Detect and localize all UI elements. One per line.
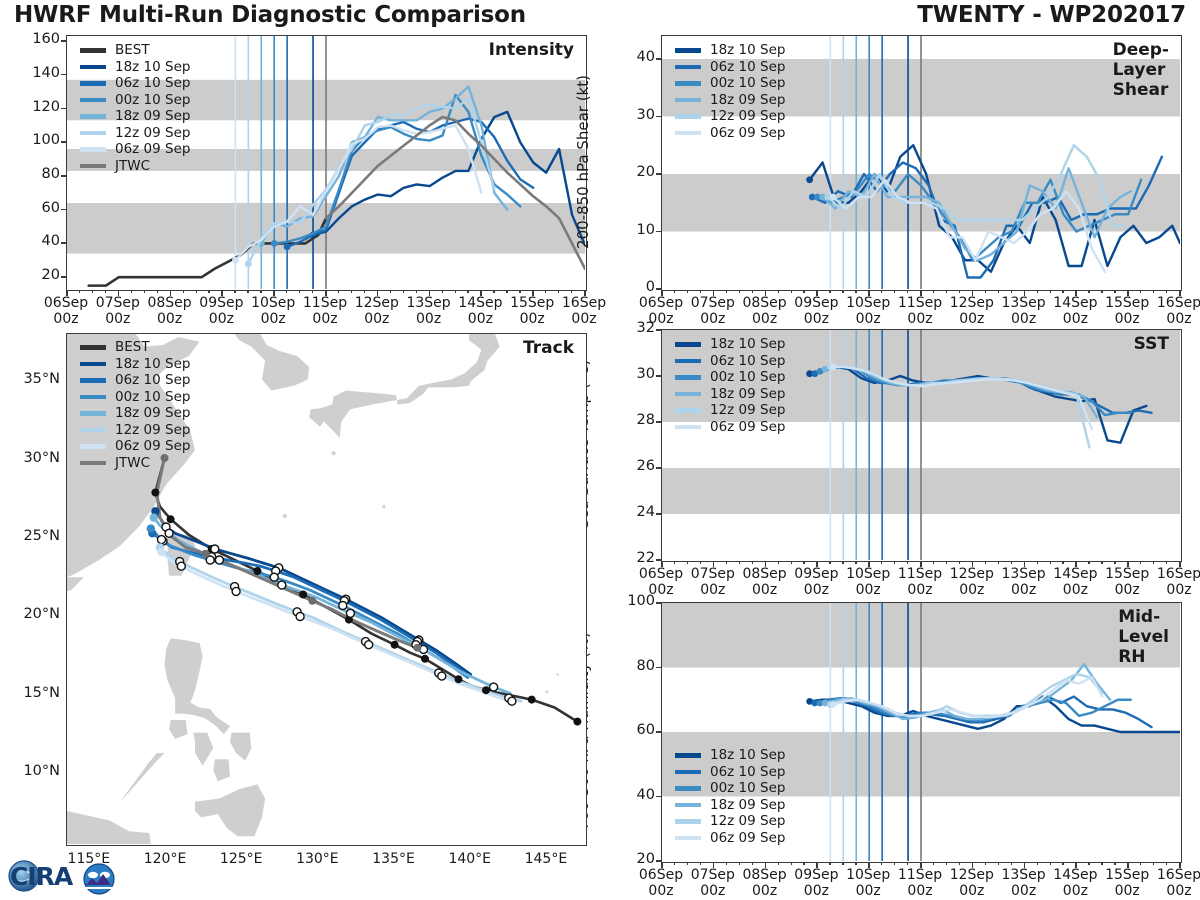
x-minor-tick	[998, 862, 999, 865]
x-minor-tick	[196, 290, 197, 293]
legend-swatch	[80, 81, 106, 86]
x-tick-mark	[972, 862, 974, 868]
legend-label: 06z 09 Sep	[710, 419, 785, 435]
panel-track: Track10°N15°N20°N25°N30°N35°N115°E120°E1…	[0, 325, 600, 885]
x-tick-mark	[868, 862, 870, 868]
x-tick-label: 16Sep00z	[1145, 867, 1200, 899]
x-minor-tick	[1153, 290, 1154, 293]
y-tick-mark	[656, 602, 662, 604]
lon-tick-label: 125°E	[201, 851, 281, 867]
legend-label: 18z 09 Sep	[710, 797, 785, 813]
x-minor-tick	[791, 561, 792, 564]
legend-swatch	[80, 395, 106, 400]
legend-label: 06z 10 Sep	[710, 764, 785, 780]
legend-swatch	[80, 345, 106, 350]
x-minor-tick	[855, 862, 856, 865]
x-tick-mark	[1075, 290, 1077, 296]
x-minor-tick	[338, 290, 339, 293]
y-tick-label: 80	[609, 658, 655, 674]
x-minor-tick	[1062, 290, 1063, 293]
legend-item[interactable]: 12z 09 Sep	[675, 402, 785, 419]
lat-tick-label: 30°N	[4, 450, 60, 466]
legend-item[interactable]: 18z 09 Sep	[675, 92, 785, 109]
x-minor-tick	[687, 862, 688, 865]
lon-tick-label: 145°E	[506, 851, 586, 867]
x-minor-tick	[752, 862, 753, 865]
x-minor-tick	[791, 290, 792, 293]
legend-label: BEST	[115, 339, 150, 355]
legend-label: 00z 10 Sep	[710, 780, 785, 796]
legend-swatch	[675, 425, 701, 430]
x-minor-tick	[985, 561, 986, 564]
x-tick-mark	[661, 862, 663, 868]
x-minor-tick	[1114, 862, 1115, 865]
legend-item[interactable]: 18z 10 Sep	[675, 336, 785, 353]
legend-swatch	[80, 378, 106, 383]
legend-label: 12z 09 Sep	[710, 813, 785, 829]
y-tick-label: 40	[14, 233, 60, 249]
x-minor-tick	[778, 561, 779, 564]
x-tick-mark	[325, 290, 327, 296]
x-minor-tick	[364, 290, 365, 293]
x-minor-tick	[907, 862, 908, 865]
x-minor-tick	[700, 862, 701, 865]
legend-swatch	[80, 65, 106, 70]
legend-item[interactable]: 06z 09 Sep	[675, 419, 785, 436]
chart-title-rh: Mid-Level RH	[1118, 607, 1169, 667]
x-minor-tick	[998, 290, 999, 293]
x-tick-mark	[429, 290, 431, 296]
x-minor-tick	[1166, 862, 1167, 865]
x-minor-tick	[1050, 290, 1051, 293]
legend-swatch	[675, 65, 701, 70]
x-minor-tick	[881, 290, 882, 293]
x-tick-mark	[118, 290, 120, 296]
lat-tick-label: 20°N	[4, 606, 60, 622]
legend-label: JTWC	[115, 455, 150, 471]
x-minor-tick	[739, 290, 740, 293]
y-tick-mark	[656, 467, 662, 469]
x-minor-tick	[1062, 561, 1063, 564]
x-minor-tick	[739, 561, 740, 564]
x-minor-tick	[894, 561, 895, 564]
x-minor-tick	[1166, 561, 1167, 564]
x-minor-tick	[506, 290, 507, 293]
x-minor-tick	[92, 290, 93, 293]
y-tick-label: 28	[609, 412, 655, 428]
legend-item[interactable]: 12z 09 Sep	[675, 813, 785, 830]
legend-swatch	[80, 362, 106, 367]
x-minor-tick	[946, 561, 947, 564]
x-minor-tick	[571, 290, 572, 293]
legend-item[interactable]: 12z 09 Sep	[80, 125, 190, 142]
legend-label: 06z 10 Sep	[115, 75, 190, 91]
x-tick-mark	[377, 290, 379, 296]
x-minor-tick	[1011, 862, 1012, 865]
x-tick-mark	[661, 561, 663, 567]
x-minor-tick	[1011, 561, 1012, 564]
legend-label: 00z 10 Sep	[115, 92, 190, 108]
x-minor-tick	[959, 862, 960, 865]
chart-title-track: Track	[523, 338, 574, 358]
x-minor-tick	[1114, 561, 1115, 564]
legend-swatch	[675, 819, 701, 824]
x-minor-tick	[105, 290, 106, 293]
x-minor-tick	[1153, 862, 1154, 865]
x-minor-tick	[208, 290, 209, 293]
x-minor-tick	[79, 290, 80, 293]
y-tick-label: 26	[609, 458, 655, 474]
x-minor-tick	[933, 862, 934, 865]
x-minor-tick	[286, 290, 287, 293]
legend-swatch	[80, 444, 106, 449]
x-minor-tick	[351, 290, 352, 293]
x-minor-tick	[907, 561, 908, 564]
x-minor-tick	[1140, 290, 1141, 293]
y-tick-label: 40	[609, 49, 655, 65]
x-tick-mark	[713, 561, 715, 567]
x-tick-label: 16Sep00z	[1145, 566, 1200, 598]
legend-swatch	[675, 131, 701, 136]
legend-item[interactable]: 06z 10 Sep	[80, 75, 190, 92]
legend-label: 18z 09 Sep	[710, 386, 785, 402]
x-tick-mark	[1075, 862, 1077, 868]
legend-item[interactable]: 18z 09 Sep	[675, 386, 785, 403]
x-tick-mark	[1024, 290, 1026, 296]
x-minor-tick	[687, 290, 688, 293]
y-tick-mark	[656, 231, 662, 233]
y-tick-mark	[61, 40, 67, 42]
legend-swatch	[80, 131, 106, 136]
y-tick-mark	[656, 667, 662, 669]
legend-item[interactable]: 00z 10 Sep	[675, 369, 785, 386]
y-tick-mark	[61, 175, 67, 177]
x-minor-tick	[1037, 561, 1038, 564]
x-minor-tick	[726, 862, 727, 865]
legend-item[interactable]: BEST	[80, 42, 190, 59]
legend-label: 18z 09 Sep	[710, 92, 785, 108]
legend-label: 06z 09 Sep	[710, 125, 785, 141]
legend-label: 06z 10 Sep	[710, 353, 785, 369]
lon-tick-label: 120°E	[125, 851, 205, 867]
legend-item[interactable]: 06z 09 Sep	[80, 438, 190, 455]
x-minor-tick	[674, 561, 675, 564]
legend-label: 18z 10 Sep	[710, 336, 785, 352]
legend-swatch	[80, 428, 106, 433]
x-tick-mark	[66, 290, 68, 296]
x-tick-mark	[1024, 561, 1026, 567]
lat-tick-label: 10°N	[4, 763, 60, 779]
storm-title: TWENTY - WP202017	[917, 2, 1186, 28]
legend-swatch	[675, 836, 701, 841]
y-tick-label: 100	[14, 132, 60, 148]
x-minor-tick	[700, 290, 701, 293]
y-tick-label: 80	[14, 166, 60, 182]
legend-item[interactable]: 00z 10 Sep	[80, 389, 190, 406]
panel-deep-layer-shear: Deep-Layer Shear01020304006Sep00z07Sep00…	[600, 28, 1200, 323]
x-minor-tick	[907, 290, 908, 293]
x-minor-tick	[752, 290, 753, 293]
y-tick-mark	[61, 108, 67, 110]
legend-item[interactable]: 00z 10 Sep	[675, 75, 785, 92]
x-minor-tick	[881, 561, 882, 564]
legend-sst: 18z 10 Sep06z 10 Sep00z 10 Sep18z 09 Sep…	[675, 336, 785, 435]
x-minor-tick	[674, 862, 675, 865]
y-tick-mark	[656, 513, 662, 515]
legend-swatch	[80, 164, 106, 169]
legend-label: 06z 10 Sep	[710, 59, 785, 75]
legend-item[interactable]: BEST	[80, 339, 190, 356]
x-minor-tick	[416, 290, 417, 293]
y-tick-label: 20	[609, 164, 655, 180]
x-minor-tick	[183, 290, 184, 293]
x-minor-tick	[234, 290, 235, 293]
legend-item[interactable]: 06z 09 Sep	[80, 141, 190, 158]
chart-title-sst: SST	[1134, 334, 1169, 354]
x-tick-mark	[816, 862, 818, 868]
x-minor-tick	[493, 290, 494, 293]
x-minor-tick	[687, 561, 688, 564]
x-minor-tick	[674, 290, 675, 293]
x-minor-tick	[829, 561, 830, 564]
x-minor-tick	[131, 290, 132, 293]
legend-swatch	[675, 114, 701, 119]
legend-label: 18z 10 Sep	[710, 42, 785, 58]
legend-swatch	[80, 98, 106, 103]
x-minor-tick	[842, 862, 843, 865]
x-minor-tick	[959, 561, 960, 564]
x-tick-mark	[1179, 561, 1181, 567]
x-minor-tick	[778, 862, 779, 865]
x-tick-mark	[816, 561, 818, 567]
x-minor-tick	[726, 290, 727, 293]
legend-swatch	[675, 98, 701, 103]
x-minor-tick	[829, 862, 830, 865]
lon-tick-label: 130°E	[277, 851, 357, 867]
x-minor-tick	[1037, 862, 1038, 865]
legend-item[interactable]: 00z 10 Sep	[675, 780, 785, 797]
y-tick-mark	[61, 276, 67, 278]
x-tick-mark	[920, 561, 922, 567]
x-minor-tick	[312, 290, 313, 293]
y-tick-mark	[656, 796, 662, 798]
legend-item[interactable]: 18z 10 Sep	[675, 42, 785, 59]
x-tick-mark	[1179, 862, 1181, 868]
lon-tick-label: 135°E	[354, 851, 434, 867]
x-minor-tick	[829, 290, 830, 293]
x-tick-mark	[1075, 561, 1077, 567]
x-tick-mark	[920, 862, 922, 868]
x-tick-mark	[661, 290, 663, 296]
legend-swatch	[675, 786, 701, 791]
lat-tick-label: 25°N	[4, 528, 60, 544]
x-tick-mark	[868, 290, 870, 296]
x-minor-tick	[1101, 862, 1102, 865]
y-tick-label: 22	[609, 550, 655, 566]
legend-item[interactable]: 06z 09 Sep	[675, 125, 785, 142]
x-minor-tick	[803, 290, 804, 293]
x-minor-tick	[1166, 290, 1167, 293]
x-minor-tick	[894, 290, 895, 293]
y-tick-label: 20	[609, 851, 655, 867]
lon-tick-label: 140°E	[430, 851, 510, 867]
legend-swatch	[675, 803, 701, 808]
x-minor-tick	[985, 862, 986, 865]
legend-item[interactable]: 18z 10 Sep	[80, 59, 190, 76]
legend-swatch	[675, 408, 701, 413]
chart-title-intensity: Intensity	[489, 40, 574, 60]
x-minor-tick	[1011, 290, 1012, 293]
x-tick-mark	[170, 290, 172, 296]
legend-swatch	[675, 342, 701, 347]
legend-item[interactable]: 06z 09 Sep	[675, 830, 785, 847]
legend-swatch	[675, 359, 701, 364]
chart-title-shear: Deep-Layer Shear	[1113, 40, 1169, 100]
legend-intensity: BEST18z 10 Sep06z 10 Sep00z 10 Sep18z 09…	[80, 42, 190, 174]
legend-shear: 18z 10 Sep06z 10 Sep00z 10 Sep18z 09 Sep…	[675, 42, 785, 141]
x-minor-tick	[1088, 561, 1089, 564]
x-minor-tick	[1050, 862, 1051, 865]
legend-item[interactable]: 18z 09 Sep	[80, 108, 190, 125]
legend-label: 18z 09 Sep	[115, 405, 190, 421]
legend-swatch	[675, 770, 701, 775]
x-tick-mark	[972, 561, 974, 567]
legend-item[interactable]: JTWC	[80, 455, 190, 472]
x-tick-mark	[713, 290, 715, 296]
x-minor-tick	[726, 561, 727, 564]
x-minor-tick	[959, 290, 960, 293]
legend-item[interactable]: 18z 09 Sep	[80, 405, 190, 422]
legend-item[interactable]: JTWC	[80, 158, 190, 175]
x-tick-mark	[532, 290, 534, 296]
x-minor-tick	[1153, 561, 1154, 564]
y-tick-label: 10	[609, 222, 655, 238]
legend-swatch	[675, 48, 701, 53]
x-minor-tick	[442, 290, 443, 293]
panel-intensity: Intensity2040608010012014016006Sep00z07S…	[0, 28, 600, 323]
x-tick-mark	[765, 561, 767, 567]
y-tick-mark	[656, 173, 662, 175]
legend-label: 12z 09 Sep	[115, 422, 190, 438]
x-minor-tick	[1140, 561, 1141, 564]
x-minor-tick	[1101, 290, 1102, 293]
x-minor-tick	[1114, 290, 1115, 293]
legend-item[interactable]: 06z 10 Sep	[80, 372, 190, 389]
x-minor-tick	[247, 290, 248, 293]
y-tick-mark	[656, 421, 662, 423]
legend-track: BEST18z 10 Sep06z 10 Sep00z 10 Sep18z 09…	[80, 339, 190, 471]
x-tick-mark	[972, 290, 974, 296]
y-tick-mark	[656, 116, 662, 118]
legend-item[interactable]: 18z 10 Sep	[80, 356, 190, 373]
legend-label: 18z 09 Sep	[115, 108, 190, 124]
y-tick-label: 40	[609, 787, 655, 803]
x-minor-tick	[803, 561, 804, 564]
x-tick-mark	[221, 290, 223, 296]
x-minor-tick	[881, 862, 882, 865]
y-tick-label: 100	[609, 593, 655, 609]
legend-item[interactable]: 00z 10 Sep	[80, 92, 190, 109]
panel-sst: SST22242628303206Sep00z07Sep00z08Sep00z0…	[600, 325, 1200, 593]
y-tick-mark	[61, 74, 67, 76]
legend-label: 06z 09 Sep	[115, 438, 190, 454]
panel-mid-level-rh: Mid-Level RH2040608010006Sep00z07Sep00z0…	[600, 595, 1200, 895]
x-minor-tick	[1140, 862, 1141, 865]
legend-label: JTWC	[115, 158, 150, 174]
legend-item[interactable]: 06z 10 Sep	[675, 59, 785, 76]
legend-swatch	[80, 48, 106, 53]
legend-swatch	[80, 411, 106, 416]
x-minor-tick	[1050, 561, 1051, 564]
x-minor-tick	[855, 561, 856, 564]
y-tick-label: 30	[609, 107, 655, 123]
legend-label: 00z 10 Sep	[710, 369, 785, 385]
x-tick-mark	[1127, 862, 1129, 868]
x-minor-tick	[946, 862, 947, 865]
legend-item[interactable]: 12z 09 Sep	[80, 422, 190, 439]
y-tick-mark	[61, 209, 67, 211]
y-tick-label: 60	[14, 200, 60, 216]
y-tick-label: 30	[609, 366, 655, 382]
legend-label: 12z 09 Sep	[115, 125, 190, 141]
x-minor-tick	[1062, 862, 1063, 865]
x-minor-tick	[1088, 290, 1089, 293]
x-tick-mark	[920, 290, 922, 296]
x-tick-mark	[1179, 290, 1181, 296]
lat-tick-label: 35°N	[4, 371, 60, 387]
x-tick-mark	[816, 290, 818, 296]
legend-swatch	[675, 392, 701, 397]
x-tick-mark	[765, 290, 767, 296]
legend-label: 18z 10 Sep	[115, 356, 190, 372]
x-minor-tick	[842, 561, 843, 564]
cira-logo: CIRA	[2, 852, 120, 898]
legend-item[interactable]: 18z 10 Sep	[675, 747, 785, 764]
x-minor-tick	[933, 290, 934, 293]
y-tick-mark	[656, 329, 662, 331]
y-tick-label: 140	[14, 65, 60, 81]
y-tick-label: 20	[14, 267, 60, 283]
x-minor-tick	[842, 290, 843, 293]
legend-label: 12z 09 Sep	[710, 402, 785, 418]
y-tick-mark	[656, 731, 662, 733]
x-minor-tick	[467, 290, 468, 293]
x-minor-tick	[545, 290, 546, 293]
legend-item[interactable]: 12z 09 Sep	[675, 108, 785, 125]
x-tick-mark	[1127, 290, 1129, 296]
legend-label: BEST	[115, 42, 150, 58]
legend-label: 06z 09 Sep	[710, 830, 785, 846]
x-minor-tick	[752, 561, 753, 564]
x-minor-tick	[1101, 561, 1102, 564]
legend-swatch	[80, 147, 106, 152]
svg-text:CIRA: CIRA	[10, 862, 74, 891]
x-minor-tick	[998, 561, 999, 564]
x-tick-mark	[765, 862, 767, 868]
x-minor-tick	[933, 561, 934, 564]
legend-item[interactable]: 06z 10 Sep	[675, 353, 785, 370]
legend-item[interactable]: 06z 10 Sep	[675, 764, 785, 781]
legend-item[interactable]: 18z 09 Sep	[675, 797, 785, 814]
y-tick-mark	[61, 141, 67, 143]
x-tick-mark	[713, 862, 715, 868]
x-minor-tick	[260, 290, 261, 293]
page-title: HWRF Multi-Run Diagnostic Comparison	[14, 2, 526, 28]
legend-swatch	[80, 461, 106, 466]
legend-label: 00z 10 Sep	[710, 75, 785, 91]
y-tick-label: 32	[609, 320, 655, 336]
x-minor-tick	[519, 290, 520, 293]
